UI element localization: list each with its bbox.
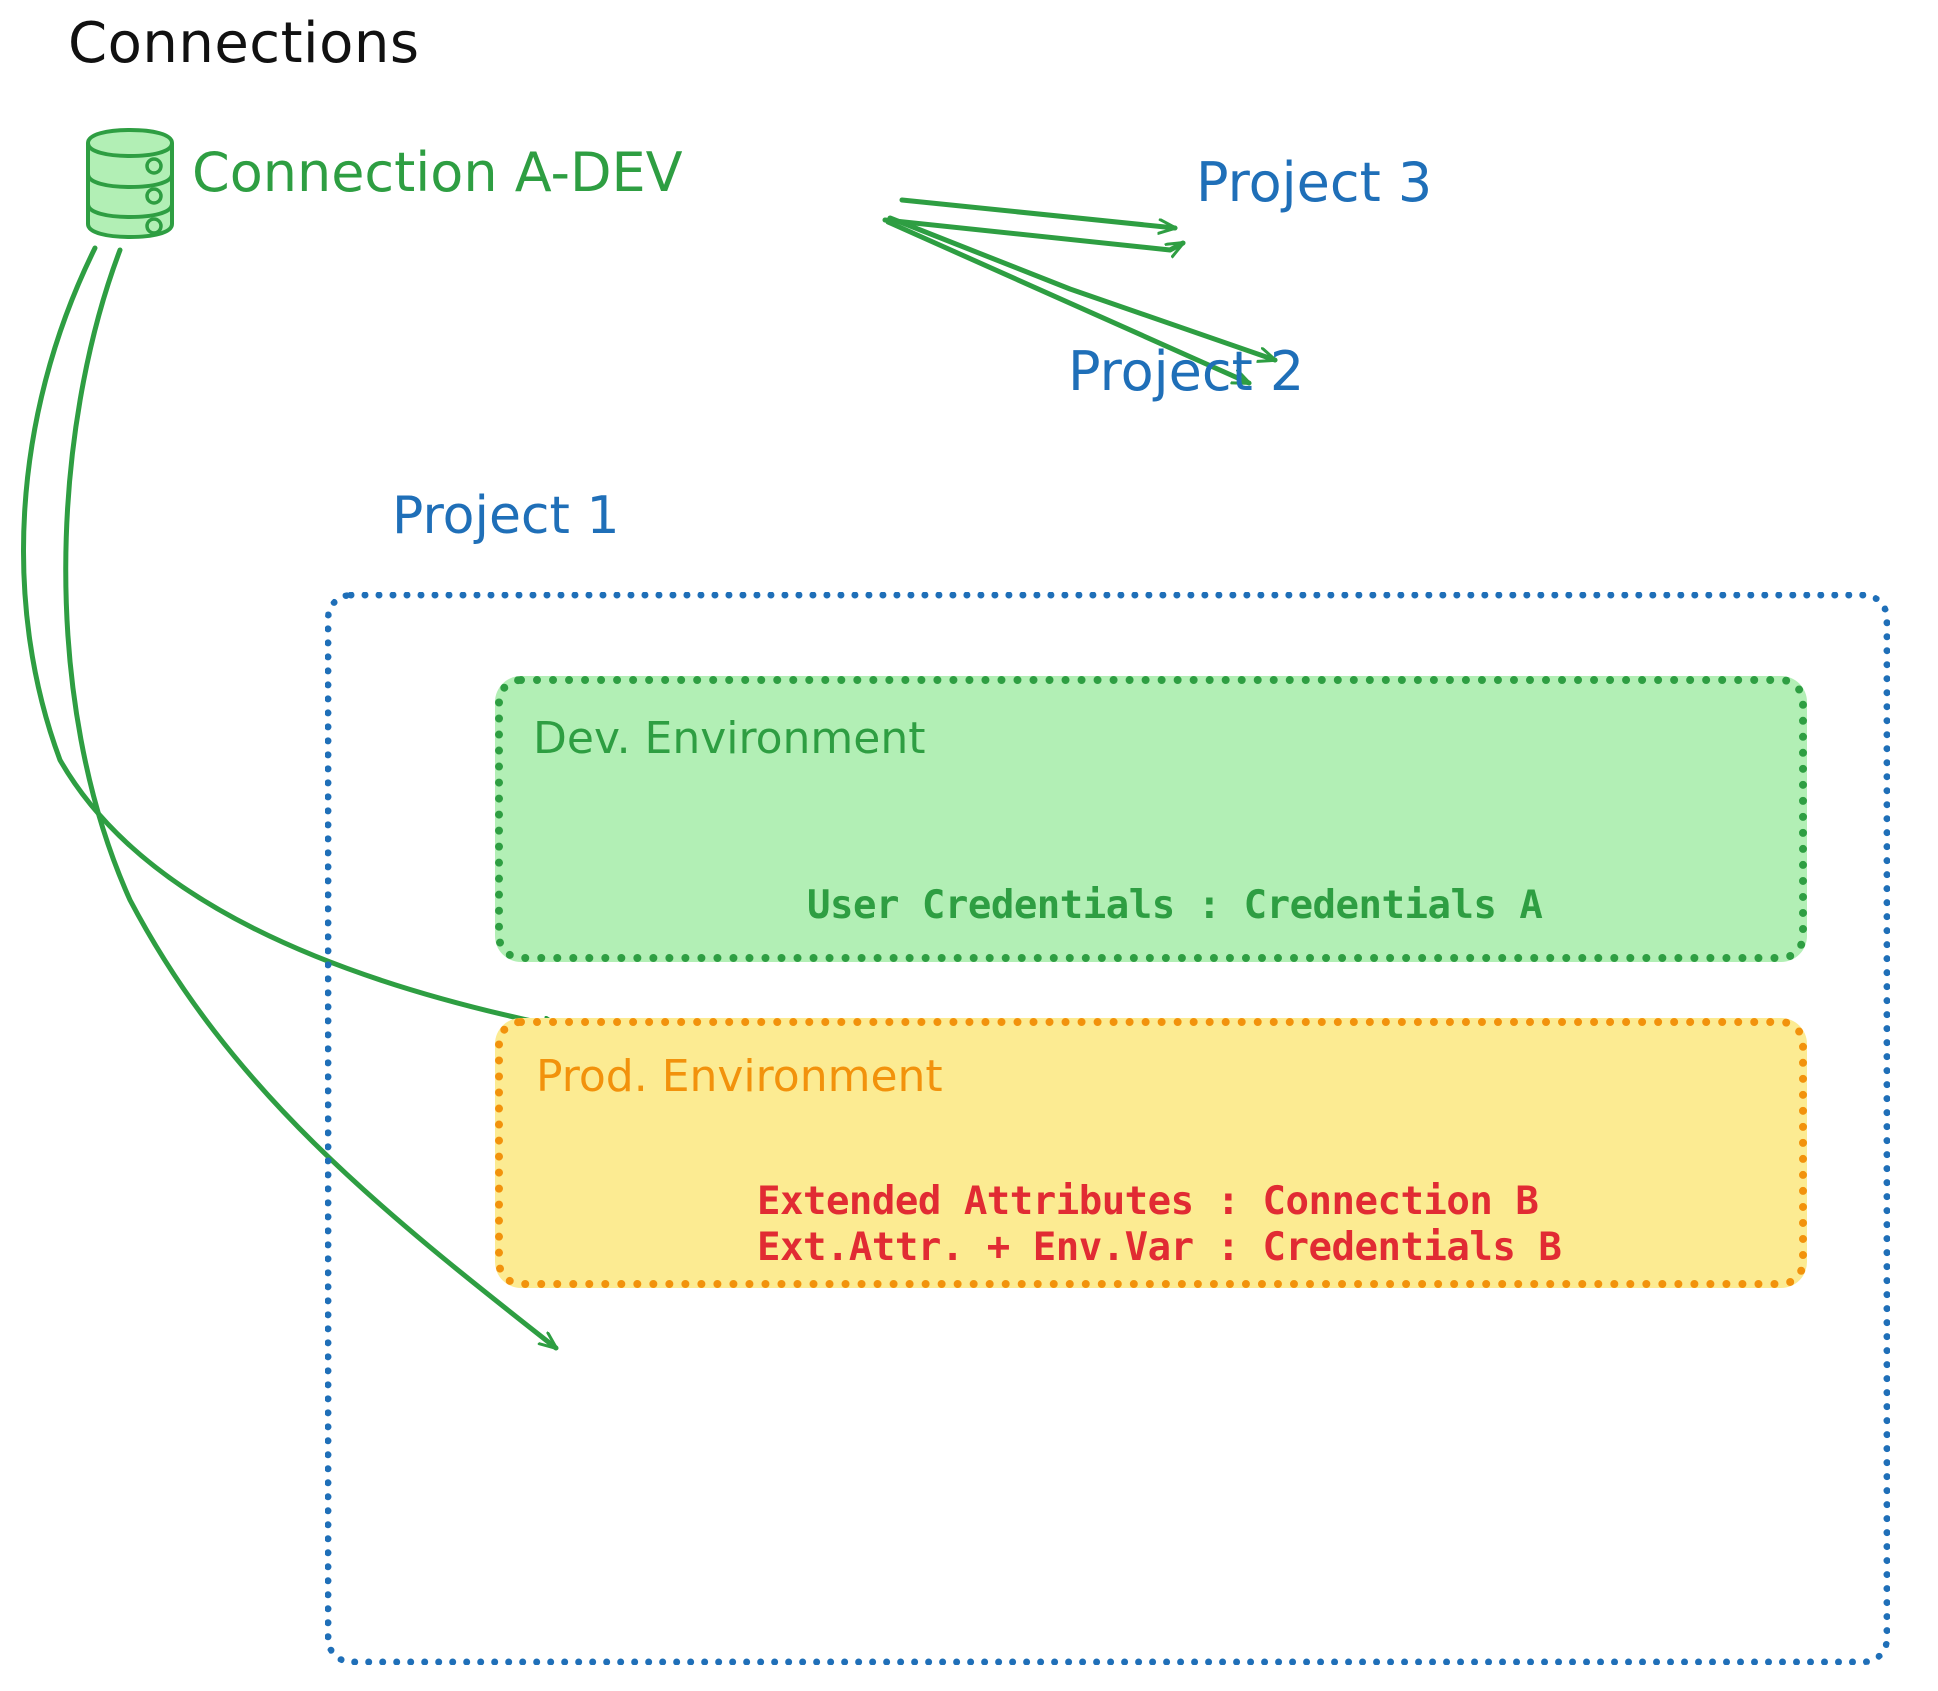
diagram-canvas: Connections Connection A-DEV Project 3 P… [0,0,1938,1691]
edge-conn-to-project3-a [902,200,1175,228]
dev-environment-title: Dev. Environment [533,717,926,761]
node-project-2: Project 2 [1068,345,1304,399]
page-title: Connections [68,16,420,72]
database-cylinder-icon [82,126,178,241]
node-project-1: Project 1 [392,490,620,542]
prod-environment-title: Prod. Environment [536,1055,943,1099]
edge-conn-to-project2-a [890,218,1275,360]
prod-environment-env-var-line: Ext.Attr. + Env.Var : Credentials B [757,1226,1561,1270]
dev-environment-credentials-line: User Credentials : Credentials A [807,884,1542,928]
edge-conn-to-project3-b [885,220,1183,250]
node-connection-a-dev: Connection A-DEV [192,146,683,200]
prod-environment-extended-attributes-line: Extended Attributes : Connection B [757,1180,1538,1224]
node-project-3: Project 3 [1196,156,1432,210]
